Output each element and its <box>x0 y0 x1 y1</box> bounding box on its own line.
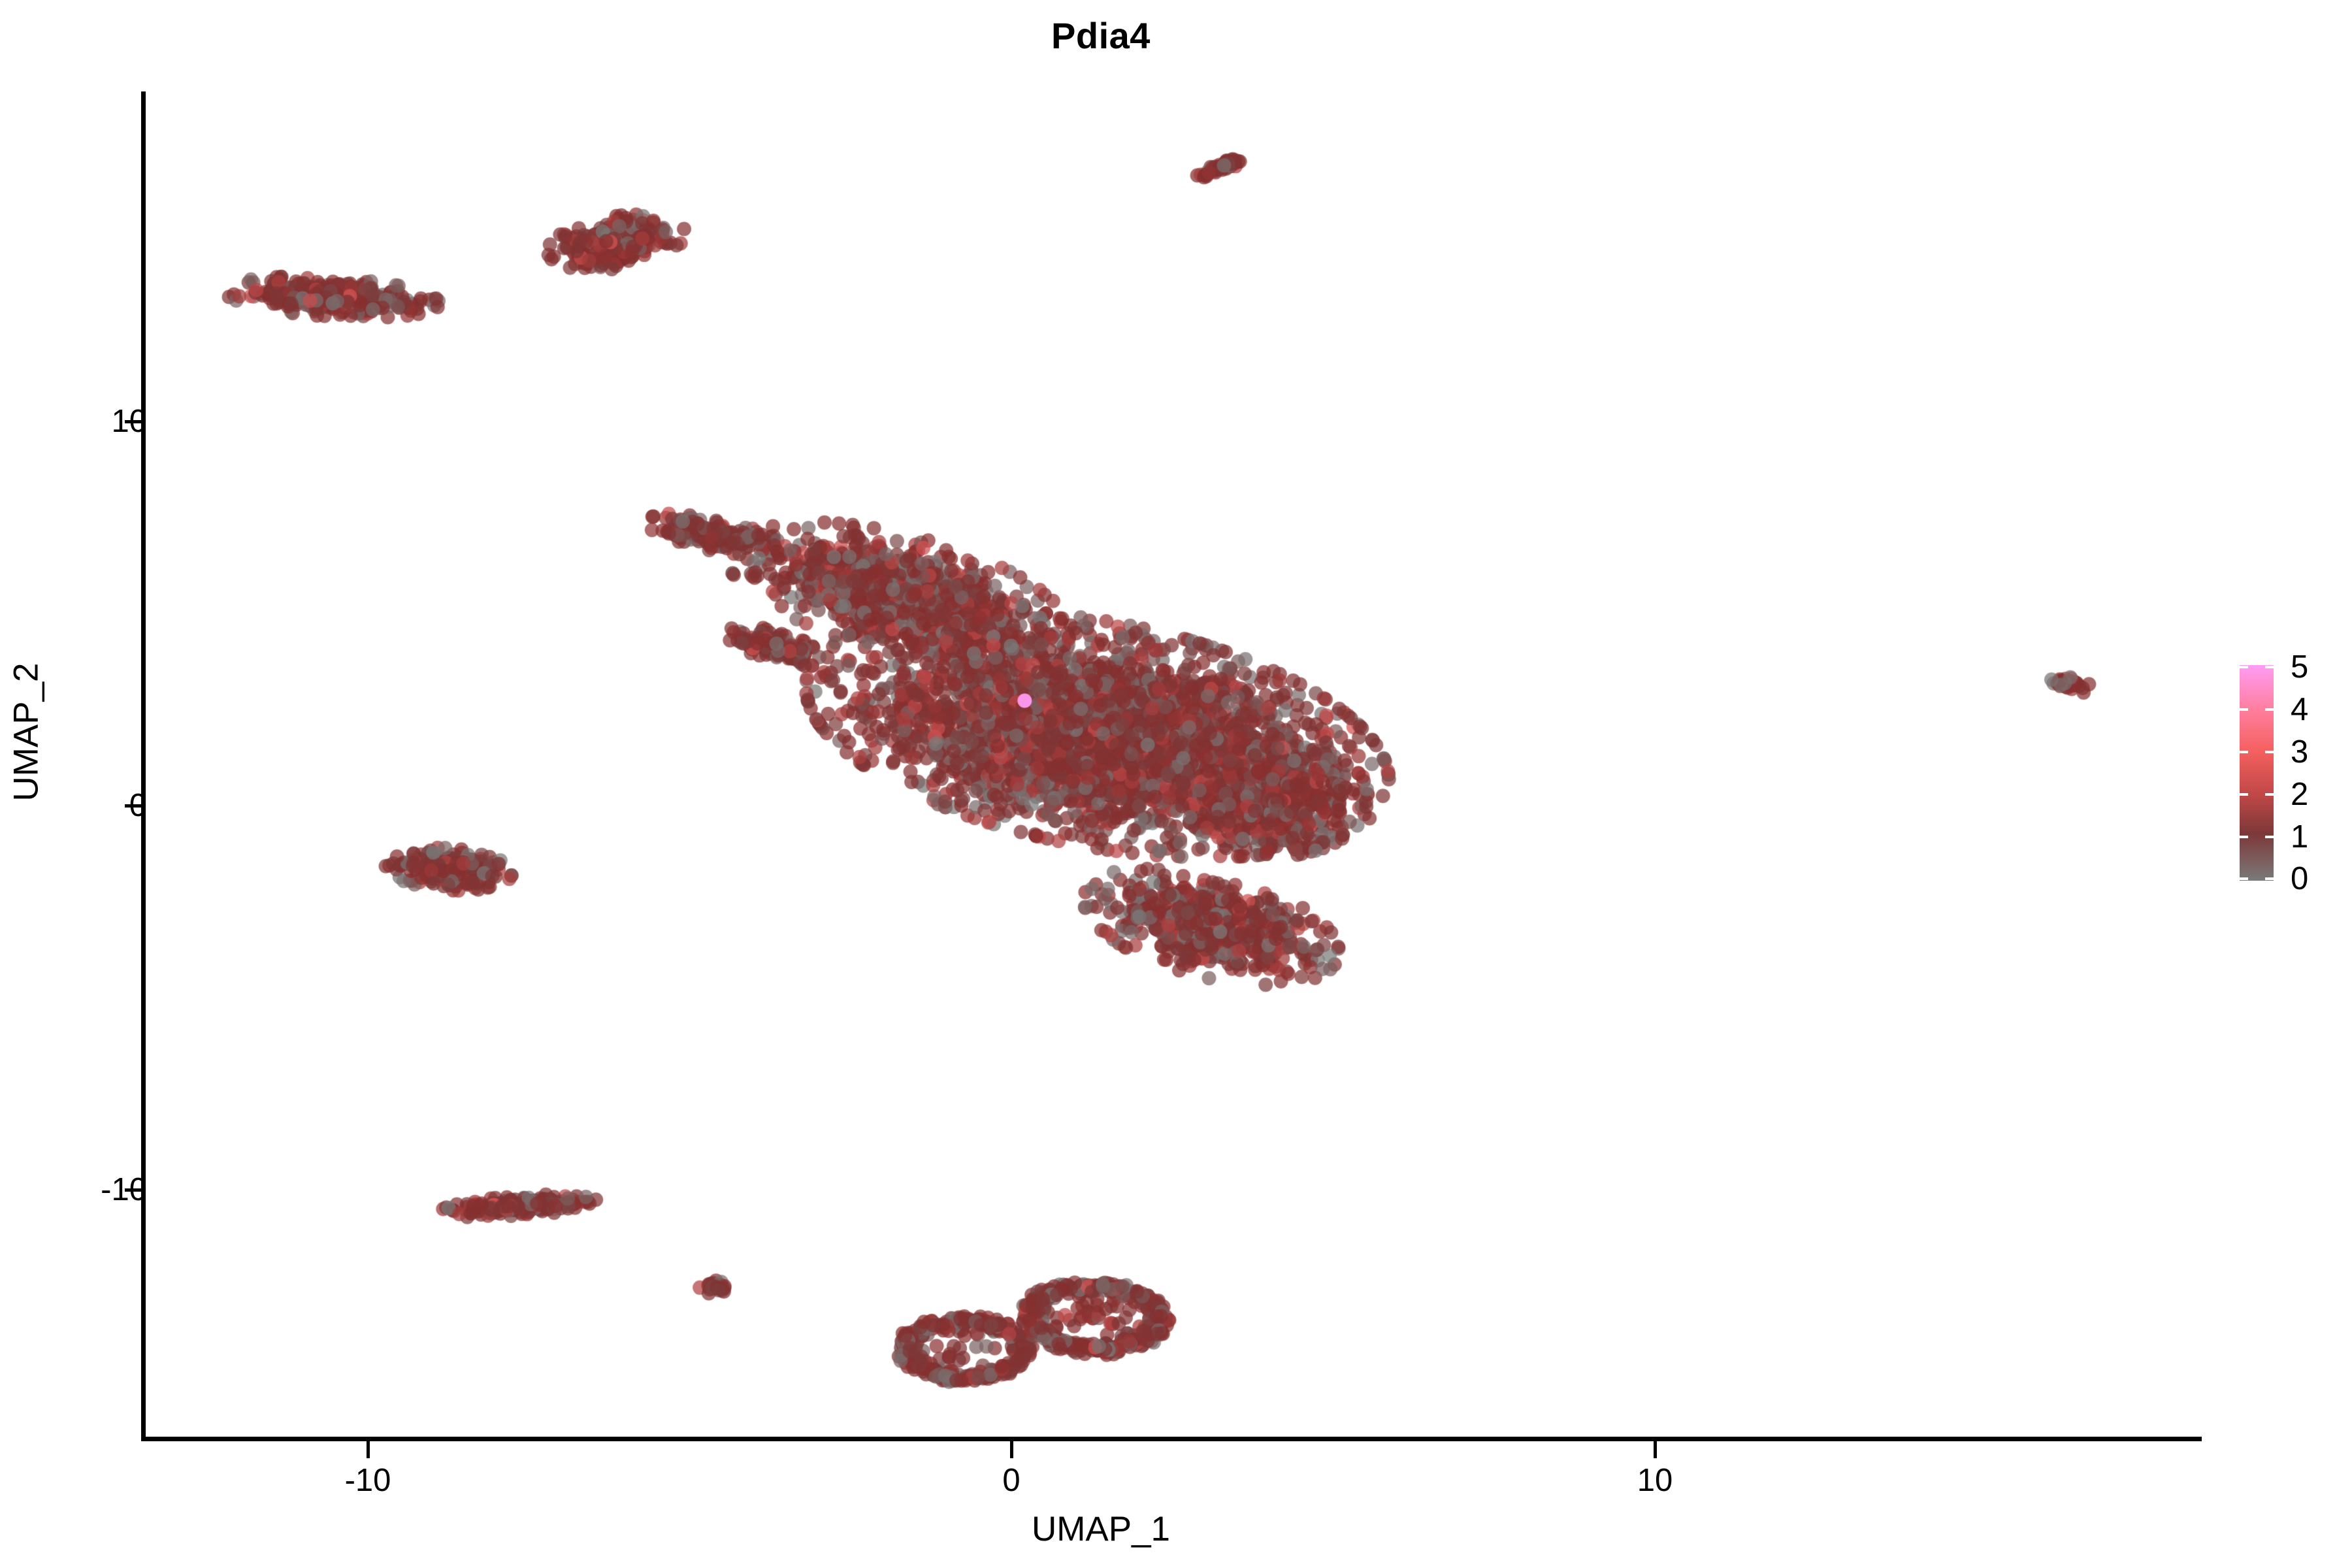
colorbar-label-2: 2 <box>2291 776 2308 813</box>
x-tick-label-0: 0 <box>1002 1462 1020 1499</box>
x-axis-title: UMAP_1 <box>0 1509 2202 1549</box>
colorbar-label-0: 0 <box>2291 860 2308 897</box>
colorbar-tick-0-left <box>2240 877 2248 880</box>
x-axis-line <box>145 1437 2202 1441</box>
colorbar-tick-0-right <box>2265 877 2274 880</box>
colorbar-label-4: 4 <box>2291 691 2308 728</box>
colorbar-tick-1-right <box>2265 836 2274 838</box>
page-title: Pdia4 <box>0 14 2202 57</box>
x-tick-mark-minus10 <box>367 1441 370 1458</box>
colorbar-tick-3-left <box>2240 751 2248 753</box>
umap-feature-plot: Pdia4 10 0 -10 -10 0 10 UMAP_1 UMAP_2 5 … <box>0 0 2352 1568</box>
x-tick-label-minus10: -10 <box>345 1462 391 1499</box>
y-axis-line <box>141 91 146 1441</box>
colorbar-tick-2-left <box>2240 793 2248 796</box>
plot-panel <box>145 91 2202 1439</box>
colorbar-tick-4-left <box>2240 708 2248 711</box>
y-axis-title: UMAP_2 <box>7 536 46 928</box>
colorbar-tick-5-left <box>2240 666 2248 668</box>
colorbar-tick-4-right <box>2265 708 2274 711</box>
colorbar-label-5: 5 <box>2291 649 2308 685</box>
y-tick-label-minus10: -10 <box>101 1171 147 1208</box>
colorbar-label-3: 3 <box>2291 734 2308 770</box>
colorbar-gradient <box>2240 665 2274 881</box>
x-tick-mark-0 <box>1010 1441 1013 1458</box>
colorbar-tick-2-right <box>2265 793 2274 796</box>
colorbar-tick-1-left <box>2240 836 2248 838</box>
scatter-points-layer <box>145 91 2202 1439</box>
colorbar-label-1: 1 <box>2291 819 2308 855</box>
legend-colorbar: 5 4 3 2 1 0 <box>2240 665 2338 881</box>
y-tick-label-10: 10 <box>111 403 147 440</box>
y-tick-label-0: 0 <box>129 787 147 824</box>
colorbar-tick-3-right <box>2265 751 2274 753</box>
colorbar-tick-5-right <box>2265 666 2274 668</box>
x-tick-mark-10 <box>1654 1441 1657 1458</box>
x-tick-label-10: 10 <box>1637 1462 1673 1499</box>
